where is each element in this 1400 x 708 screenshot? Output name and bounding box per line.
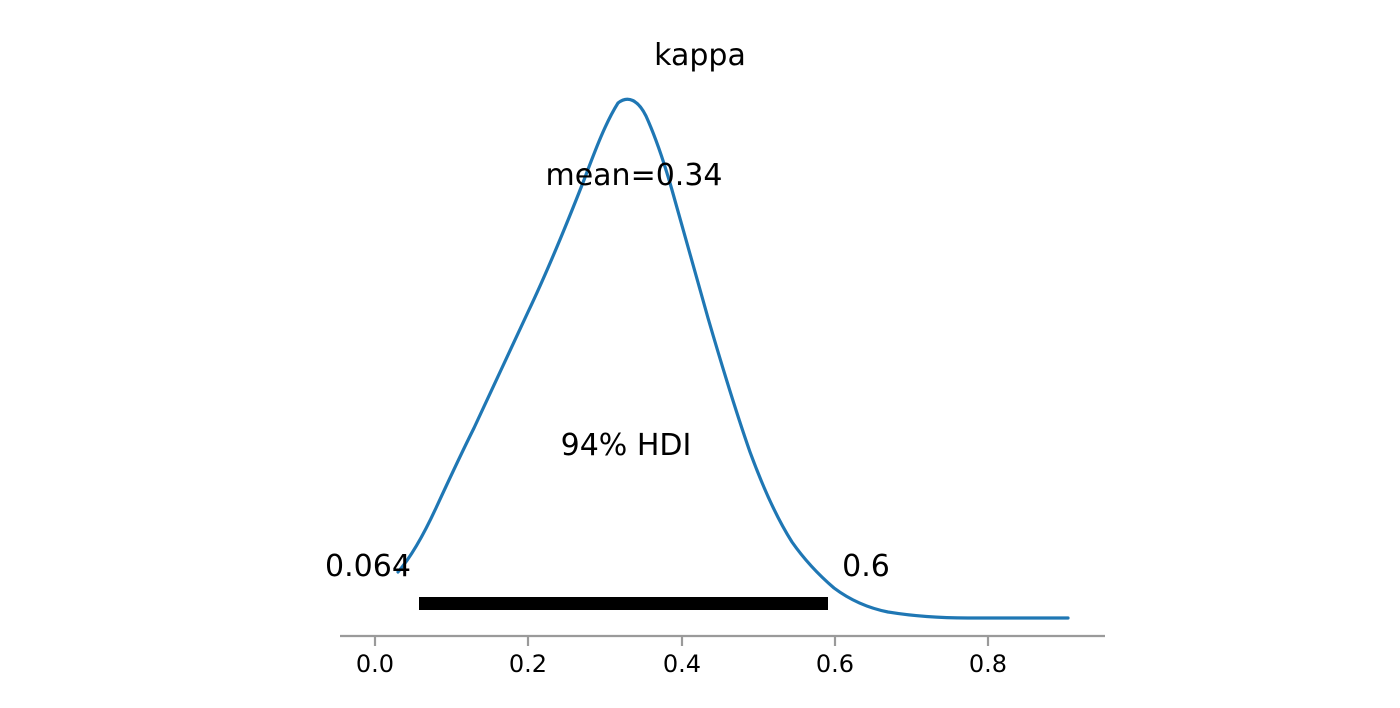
x-tick-label-1: 0.2 <box>468 650 588 678</box>
x-tick-label-4: 0.8 <box>928 650 1048 678</box>
x-tick-label-0: 0.0 <box>315 650 435 678</box>
hdi-lower-bound-label: 0.064 <box>268 549 468 584</box>
x-tick-label-2: 0.4 <box>622 650 742 678</box>
x-tick-label-3: 0.6 <box>775 650 895 678</box>
hdi-interval-bar <box>419 597 828 610</box>
hdi-annotation: 94% HDI <box>0 428 1252 463</box>
kappa-posterior-plot: kappa mean=0.34 94% HDI 0.064 0.6 0.0 0.… <box>0 0 1400 708</box>
plot-canvas <box>0 0 1400 708</box>
x-axis-ticks <box>375 636 988 646</box>
mean-annotation: mean=0.34 <box>0 158 1268 193</box>
hdi-upper-bound-label: 0.6 <box>766 549 966 584</box>
